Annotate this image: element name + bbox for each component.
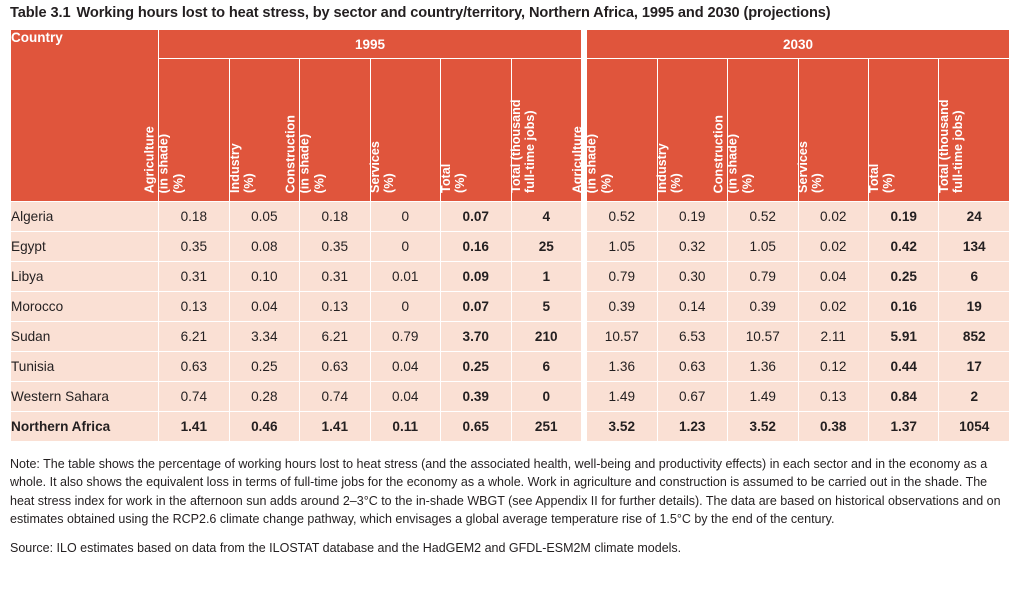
heat-stress-table: Country 1995 2030 Agriculture(in shade)(… [10, 29, 1010, 442]
table-row: Algeria0.180.050.1800.0740.520.190.520.0… [11, 202, 1009, 231]
cell-country: Egypt [11, 232, 158, 261]
cell-2030-2: 1.49 [728, 382, 797, 411]
cell-1995-4: 0.65 [441, 412, 510, 441]
cell-2030-5: 2 [939, 382, 1009, 411]
cell-2030-3: 0.04 [799, 262, 868, 291]
cell-2030-1: 6.53 [658, 322, 727, 351]
cell-1995-0: 0.63 [159, 352, 228, 381]
table-row: Northern Africa1.410.461.410.110.652513.… [11, 412, 1009, 441]
page-title: Table 3.1Working hours lost to heat stre… [10, 0, 1010, 29]
cell-1995-5: 5 [512, 292, 582, 321]
cell-2030-3: 2.11 [799, 322, 868, 351]
cell-1995-5: 0 [512, 382, 582, 411]
header-sub-1995-0: Agriculture(in shade)(%) [159, 59, 228, 201]
cell-2030-1: 0.63 [658, 352, 727, 381]
cell-2030-4: 0.84 [869, 382, 938, 411]
cell-1995-3: 0.01 [371, 262, 440, 291]
cell-1995-4: 0.07 [441, 292, 510, 321]
cell-2030-3: 0.02 [799, 292, 868, 321]
cell-2030-0: 1.49 [587, 382, 656, 411]
cell-1995-0: 0.18 [159, 202, 228, 231]
cell-1995-2: 0.31 [300, 262, 369, 291]
cell-2030-1: 0.32 [658, 232, 727, 261]
cell-2030-5: 6 [939, 262, 1009, 291]
header-sub-label: Services(%) [369, 141, 398, 193]
cell-1995-2: 6.21 [300, 322, 369, 351]
cell-1995-2: 0.74 [300, 382, 369, 411]
header-sub-label: Total (thousandfull-time jobs) [510, 100, 539, 194]
cell-2030-4: 5.91 [869, 322, 938, 351]
group-divider-cell [582, 352, 586, 381]
cell-country: Tunisia [11, 352, 158, 381]
cell-2030-5: 24 [939, 202, 1009, 231]
cell-2030-4: 0.19 [869, 202, 938, 231]
header-sub-2030-3: Services(%) [799, 59, 868, 201]
cell-1995-4: 0.25 [441, 352, 510, 381]
cell-1995-4: 0.16 [441, 232, 510, 261]
cell-2030-2: 10.57 [728, 322, 797, 351]
cell-1995-5: 25 [512, 232, 582, 261]
header-sub-label: Total (thousandfull-time jobs) [938, 100, 967, 194]
cell-2030-0: 3.52 [587, 412, 656, 441]
table-title-text: Working hours lost to heat stress, by se… [76, 5, 830, 21]
header-country: Country [11, 30, 158, 201]
cell-1995-1: 0.28 [230, 382, 299, 411]
header-sub-1995-3: Services(%) [371, 59, 440, 201]
cell-2030-1: 0.30 [658, 262, 727, 291]
cell-1995-4: 0.07 [441, 202, 510, 231]
table-row: Morocco0.130.040.1300.0750.390.140.390.0… [11, 292, 1009, 321]
cell-country: Libya [11, 262, 158, 291]
header-sub-label: Agriculture(in shade)(%) [143, 126, 186, 193]
cell-2030-5: 19 [939, 292, 1009, 321]
cell-1995-0: 1.41 [159, 412, 228, 441]
header-sub-2030-4: Total(%) [869, 59, 938, 201]
cell-2030-3: 0.13 [799, 382, 868, 411]
cell-1995-4: 0.09 [441, 262, 510, 291]
header-sub-label: Industry(%) [228, 143, 257, 193]
cell-1995-5: 1 [512, 262, 582, 291]
cell-1995-3: 0.04 [371, 352, 440, 381]
cell-1995-0: 0.31 [159, 262, 228, 291]
cell-country: Sudan [11, 322, 158, 351]
header-row-years: Country 1995 2030 [11, 30, 1009, 58]
cell-2030-5: 17 [939, 352, 1009, 381]
cell-1995-5: 6 [512, 352, 582, 381]
header-year-1995: 1995 [159, 30, 581, 58]
group-divider-cell [582, 412, 586, 441]
table-page: Table 3.1Working hours lost to heat stre… [0, 0, 1020, 590]
cell-2030-4: 0.44 [869, 352, 938, 381]
cell-2030-3: 0.02 [799, 202, 868, 231]
group-divider-cell [582, 232, 586, 261]
cell-1995-3: 0.79 [371, 322, 440, 351]
cell-2030-0: 0.39 [587, 292, 656, 321]
cell-1995-0: 0.13 [159, 292, 228, 321]
header-sub-label: Construction(in shade)(%) [712, 115, 755, 193]
cell-2030-1: 0.14 [658, 292, 727, 321]
cell-2030-3: 0.12 [799, 352, 868, 381]
cell-2030-0: 1.05 [587, 232, 656, 261]
cell-2030-4: 0.16 [869, 292, 938, 321]
cell-2030-1: 1.23 [658, 412, 727, 441]
source-text: Source: ILO estimates based on data from… [10, 539, 1010, 557]
cell-2030-2: 0.79 [728, 262, 797, 291]
cell-1995-4: 0.39 [441, 382, 510, 411]
table-row: Libya0.310.100.310.010.0910.790.300.790.… [11, 262, 1009, 291]
cell-1995-2: 0.63 [300, 352, 369, 381]
cell-2030-1: 0.67 [658, 382, 727, 411]
cell-1995-0: 0.74 [159, 382, 228, 411]
table-notes: Note: The table shows the percentage of … [10, 442, 1010, 557]
cell-1995-1: 3.34 [230, 322, 299, 351]
cell-country: Northern Africa [11, 412, 158, 441]
cell-1995-4: 3.70 [441, 322, 510, 351]
cell-1995-5: 210 [512, 322, 582, 351]
header-sub-2030-2: Construction(in shade)(%) [728, 59, 797, 201]
table-row: Sudan6.213.346.210.793.7021010.576.5310.… [11, 322, 1009, 351]
cell-2030-5: 134 [939, 232, 1009, 261]
cell-2030-0: 1.36 [587, 352, 656, 381]
table-row: Tunisia0.630.250.630.040.2561.360.631.36… [11, 352, 1009, 381]
table-row: Western Sahara0.740.280.740.040.3901.490… [11, 382, 1009, 411]
cell-1995-1: 0.08 [230, 232, 299, 261]
header-sub-2030-5: Total (thousandfull-time jobs) [939, 59, 1009, 201]
cell-2030-0: 0.79 [587, 262, 656, 291]
cell-1995-5: 251 [512, 412, 582, 441]
cell-2030-5: 1054 [939, 412, 1009, 441]
header-sub-1995-2: Construction(in shade)(%) [300, 59, 369, 201]
cell-2030-2: 1.36 [728, 352, 797, 381]
cell-country: Morocco [11, 292, 158, 321]
cell-1995-5: 4 [512, 202, 582, 231]
cell-2030-0: 10.57 [587, 322, 656, 351]
header-sub-2030-0: Agriculture(in shade)(%) [587, 59, 656, 201]
cell-1995-1: 0.04 [230, 292, 299, 321]
cell-1995-2: 1.41 [300, 412, 369, 441]
header-sub-label: Total(%) [439, 164, 468, 193]
table-row: Egypt0.350.080.3500.16251.050.321.050.02… [11, 232, 1009, 261]
cell-1995-0: 0.35 [159, 232, 228, 261]
table-body: Algeria0.180.050.1800.0740.520.190.520.0… [11, 202, 1009, 441]
cell-1995-2: 0.18 [300, 202, 369, 231]
cell-2030-2: 3.52 [728, 412, 797, 441]
table-header: Country 1995 2030 Agriculture(in shade)(… [11, 30, 1009, 201]
header-sub-label: Industry(%) [656, 143, 685, 193]
cell-1995-2: 0.35 [300, 232, 369, 261]
table-number: Table 3.1 [10, 5, 70, 21]
cell-1995-3: 0 [371, 292, 440, 321]
header-sub-label: Services(%) [797, 141, 826, 193]
group-divider-cell [582, 202, 586, 231]
cell-2030-4: 0.42 [869, 232, 938, 261]
cell-1995-3: 0 [371, 202, 440, 231]
cell-2030-2: 0.52 [728, 202, 797, 231]
cell-2030-2: 1.05 [728, 232, 797, 261]
cell-2030-4: 0.25 [869, 262, 938, 291]
group-divider-cell [582, 322, 586, 351]
cell-2030-0: 0.52 [587, 202, 656, 231]
cell-1995-3: 0.04 [371, 382, 440, 411]
cell-1995-1: 0.46 [230, 412, 299, 441]
cell-1995-1: 0.05 [230, 202, 299, 231]
cell-2030-1: 0.19 [658, 202, 727, 231]
cell-1995-1: 0.10 [230, 262, 299, 291]
group-divider-cell [582, 262, 586, 291]
note-text: Note: The table shows the percentage of … [10, 455, 1010, 529]
cell-1995-3: 0.11 [371, 412, 440, 441]
cell-2030-3: 0.38 [799, 412, 868, 441]
cell-1995-0: 6.21 [159, 322, 228, 351]
cell-1995-2: 0.13 [300, 292, 369, 321]
cell-1995-3: 0 [371, 232, 440, 261]
cell-2030-4: 1.37 [869, 412, 938, 441]
header-sub-1995-4: Total(%) [441, 59, 510, 201]
cell-1995-1: 0.25 [230, 352, 299, 381]
header-row-subcolumns: Agriculture(in shade)(%)Industry(%)Const… [11, 59, 1009, 201]
header-sub-label: Agriculture(in shade)(%) [571, 126, 614, 193]
cell-2030-3: 0.02 [799, 232, 868, 261]
cell-2030-2: 0.39 [728, 292, 797, 321]
group-divider-cell [582, 292, 586, 321]
cell-country: Western Sahara [11, 382, 158, 411]
header-year-2030: 2030 [587, 30, 1009, 58]
cell-country: Algeria [11, 202, 158, 231]
header-sub-label: Construction(in shade)(%) [284, 115, 327, 193]
header-sub-label: Total(%) [867, 164, 896, 193]
group-divider-cell [582, 382, 586, 411]
cell-2030-5: 852 [939, 322, 1009, 351]
